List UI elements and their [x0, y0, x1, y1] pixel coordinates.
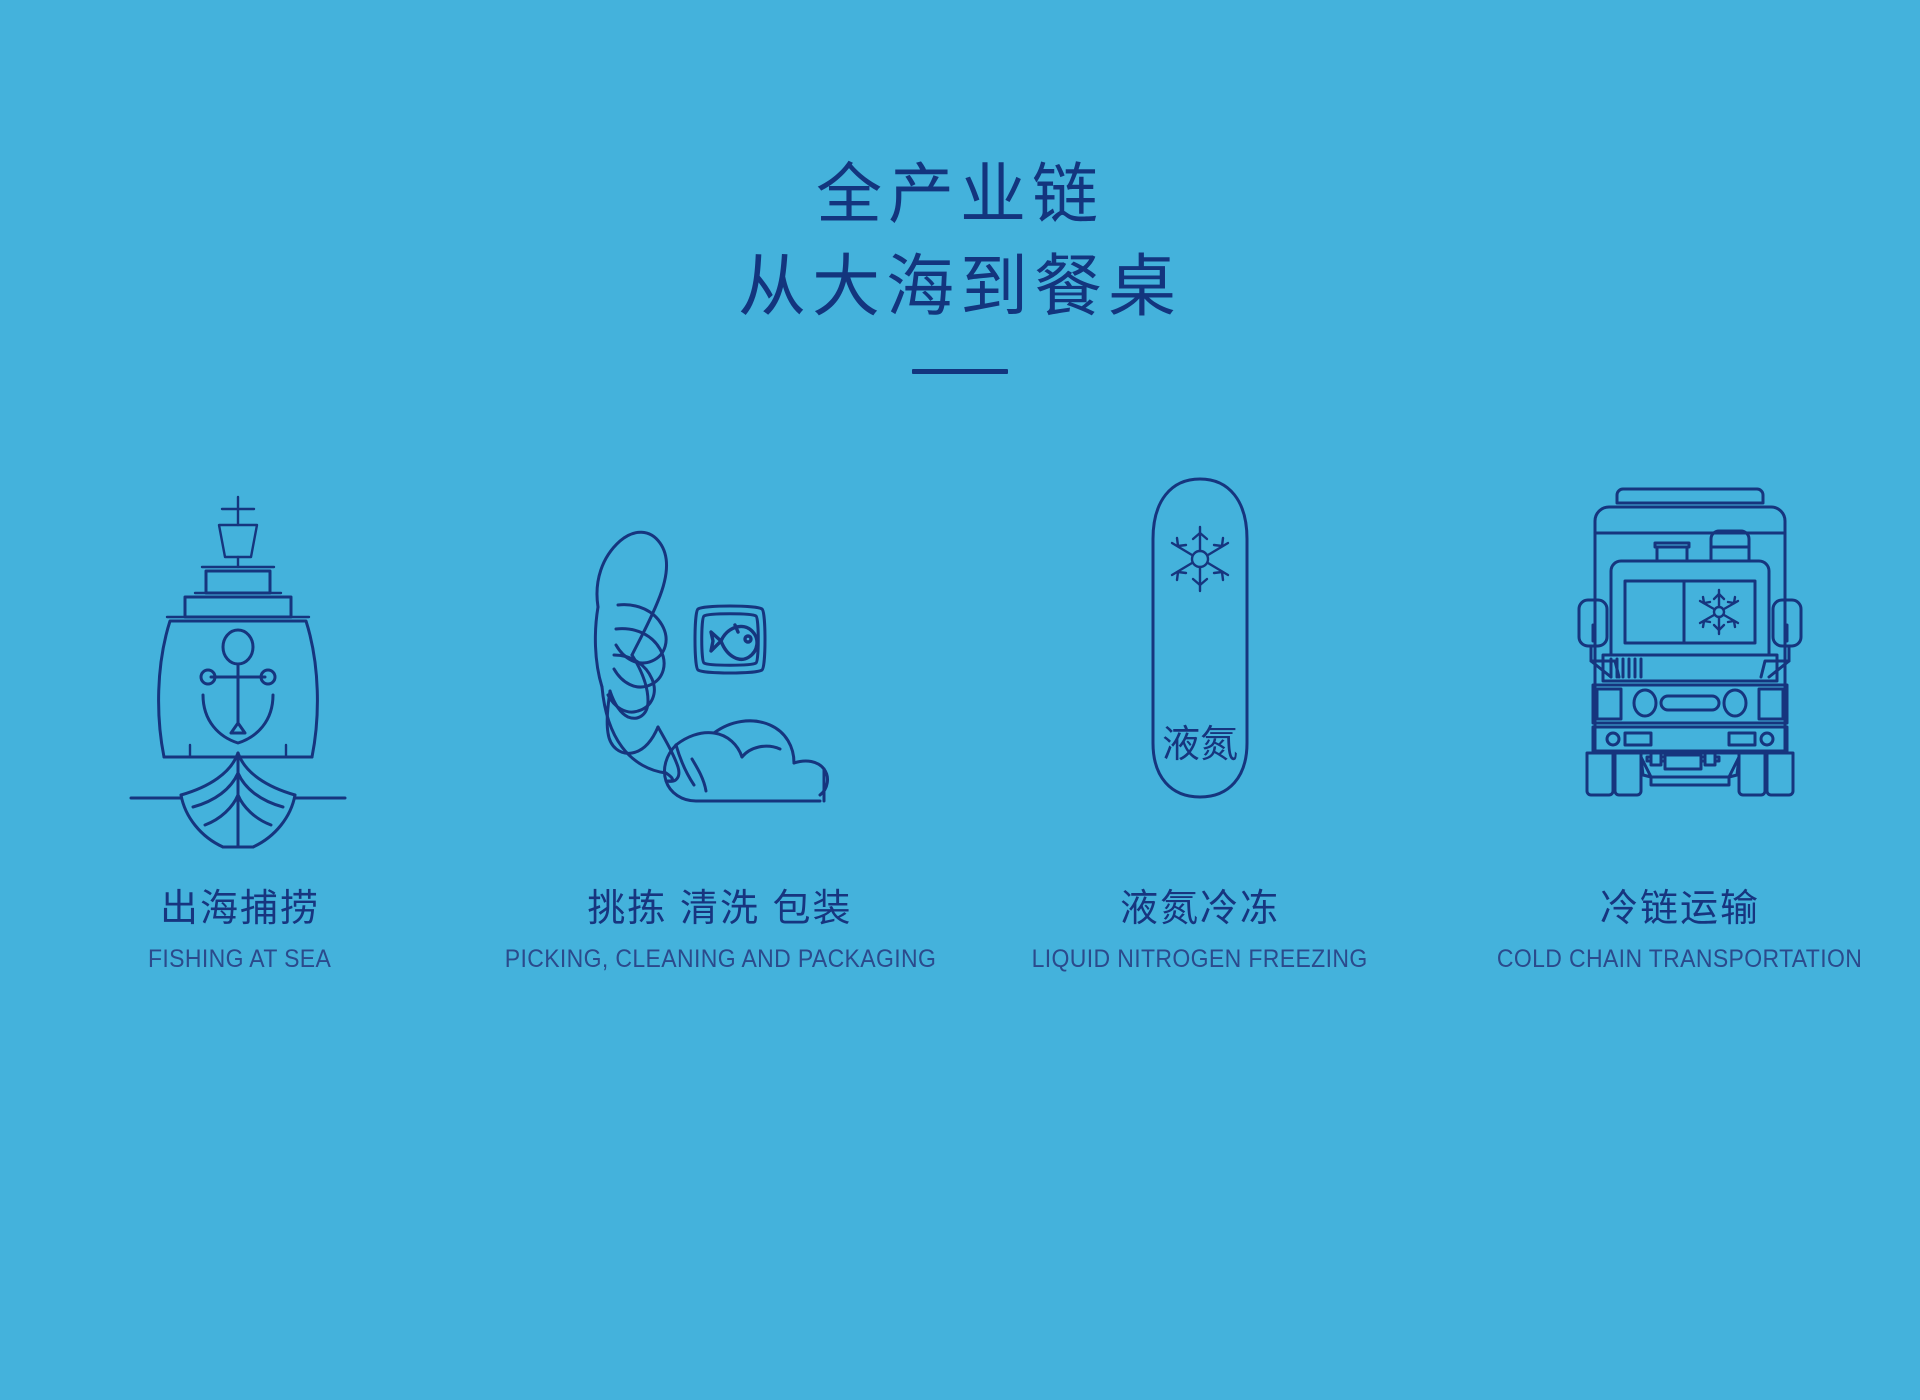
step-fishing-at-sea: 出海捕捞 FISHING AT SEA [0, 455, 480, 974]
hands-packaged-fish-icon [470, 455, 950, 805]
step-1-label-en: FISHING AT SEA [148, 945, 331, 974]
step-4-label-cn: 冷链运输 [1481, 877, 1878, 932]
step-picking-cleaning-packaging: 挑拣 清洗 包装 PICKING, CLEANING AND PACKAGING [480, 455, 960, 974]
step-1-labels: 出海捕捞 FISHING AT SEA [140, 877, 339, 974]
divider-wrap [0, 369, 1920, 374]
snowflake-icon [1172, 527, 1228, 591]
step-2-labels: 挑拣 清洗 包装 PICKING, CLEANING AND PACKAGING [486, 877, 955, 974]
tank-text: 液氮 [1162, 724, 1238, 766]
page-title-line-2: 从大海到餐桌 [0, 241, 1920, 335]
step-liquid-nitrogen-freezing: 液氮 液氮冷冻 LIQUID NITROGEN FREEZING [960, 455, 1440, 974]
fishing-boat-icon [0, 455, 478, 805]
step-3-label-en: LIQUID NITROGEN FREEZING [1032, 945, 1368, 974]
liquid-nitrogen-tank-icon: 液氮 [960, 455, 1440, 805]
step-2-label-cn: 挑拣 清洗 包装 [486, 877, 955, 932]
page-title-line-1: 全产业链 [0, 150, 1920, 241]
step-3-label-cn: 液氮冷冻 [1017, 877, 1382, 932]
title-divider [912, 369, 1008, 374]
refrigerated-truck-icon [1450, 455, 1920, 805]
process-steps: 出海捕捞 FISHING AT SEA [0, 455, 1920, 1155]
step-2-label-en: PICKING, CLEANING AND PACKAGING [504, 945, 935, 974]
poster-canvas: 全产业链 从大海到餐桌 [0, 0, 1920, 1400]
snowflake-icon [1700, 590, 1738, 634]
step-3-labels: 液氮冷冻 LIQUID NITROGEN FREEZING [1017, 877, 1382, 974]
step-1-label-cn: 出海捕捞 [140, 877, 339, 932]
step-4-labels: 冷链运输 COLD CHAIN TRANSPORTATION [1481, 877, 1878, 974]
step-4-label-en: COLD CHAIN TRANSPORTATION [1497, 945, 1862, 974]
step-cold-chain-transportation: 冷链运输 COLD CHAIN TRANSPORTATION [1440, 455, 1920, 974]
header: 全产业链 从大海到餐桌 [0, 150, 1920, 374]
